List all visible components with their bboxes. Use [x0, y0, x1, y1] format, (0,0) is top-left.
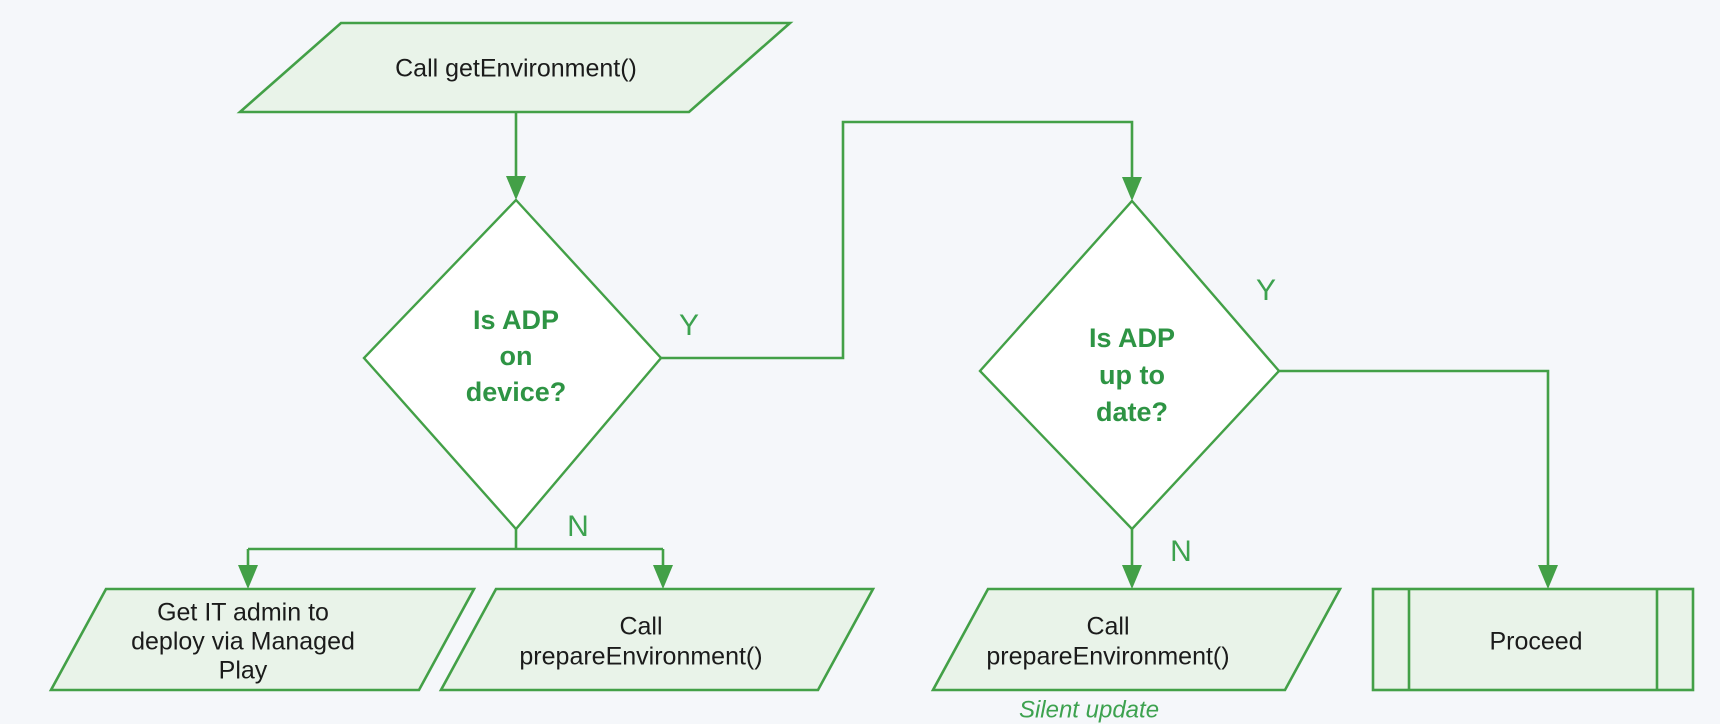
arrow-head-yes-to-proceed [1538, 565, 1558, 589]
node-proceed[interactable]: Proceed [1373, 589, 1693, 690]
branch-label-on-device-no: N [567, 510, 589, 543]
node-label-on-device-line2: on [500, 341, 533, 371]
flowchart-canvas: Call getEnvironment() Is ADP on device? … [0, 0, 1720, 724]
branch-label-up-to-date-yes: Y [1256, 274, 1276, 307]
arrow-head-no-to-prepare-env-left [653, 565, 673, 589]
node-label-proceed: Proceed [1489, 628, 1582, 656]
node-label-prepare-env-right-line1: Call [1086, 613, 1129, 641]
node-label-managed-play-line1: Get IT admin to [157, 599, 329, 627]
arrow-head-start-to-decision [506, 176, 526, 200]
node-label-up-to-date-line3: date? [1096, 397, 1168, 427]
branch-label-on-device-yes: Y [679, 309, 699, 342]
node-label-managed-play-line3: Play [219, 657, 268, 685]
node-label-up-to-date-line1: Is ADP [1089, 323, 1175, 353]
node-label-on-device-line1: Is ADP [473, 305, 559, 335]
flowchart-svg: Call getEnvironment() Is ADP on device? … [0, 0, 1720, 724]
node-label-on-device-line3: device? [466, 377, 567, 407]
node-label-up-to-date-line2: up to [1099, 360, 1165, 390]
node-label-call-get-environment: Call getEnvironment() [395, 55, 637, 83]
branch-label-up-to-date-no: N [1170, 535, 1192, 568]
node-call-get-environment[interactable]: Call getEnvironment() [240, 23, 790, 112]
parallelogram-shape-prepare-env-right [933, 589, 1340, 690]
node-is-adp-up-to-date[interactable]: Is ADP up to date? [980, 201, 1279, 529]
node-is-adp-on-device[interactable]: Is ADP on device? [364, 200, 661, 529]
node-label-prepare-env-left-line1: Call [619, 613, 662, 641]
node-label-managed-play-line2: deploy via Managed [131, 628, 355, 656]
arrow-head-no-to-prepare-env-right [1122, 565, 1142, 589]
arrow-head-yes-to-up-to-date [1122, 177, 1142, 201]
arrow-head-no-to-managed-play [238, 565, 258, 589]
node-call-prepare-environment-right[interactable]: Call prepareEnvironment() Silent update [933, 589, 1340, 723]
node-call-prepare-environment-left[interactable]: Call prepareEnvironment() [441, 589, 873, 690]
node-get-it-admin-deploy[interactable]: Get IT admin to deploy via Managed Play [51, 589, 474, 690]
edge-up-to-date-yes-to-proceed [1279, 371, 1548, 576]
node-label-prepare-env-left-line2: prepareEnvironment() [519, 643, 762, 671]
annotation-silent-update: Silent update [1019, 696, 1159, 723]
node-label-prepare-env-right-line2: prepareEnvironment() [986, 643, 1229, 671]
